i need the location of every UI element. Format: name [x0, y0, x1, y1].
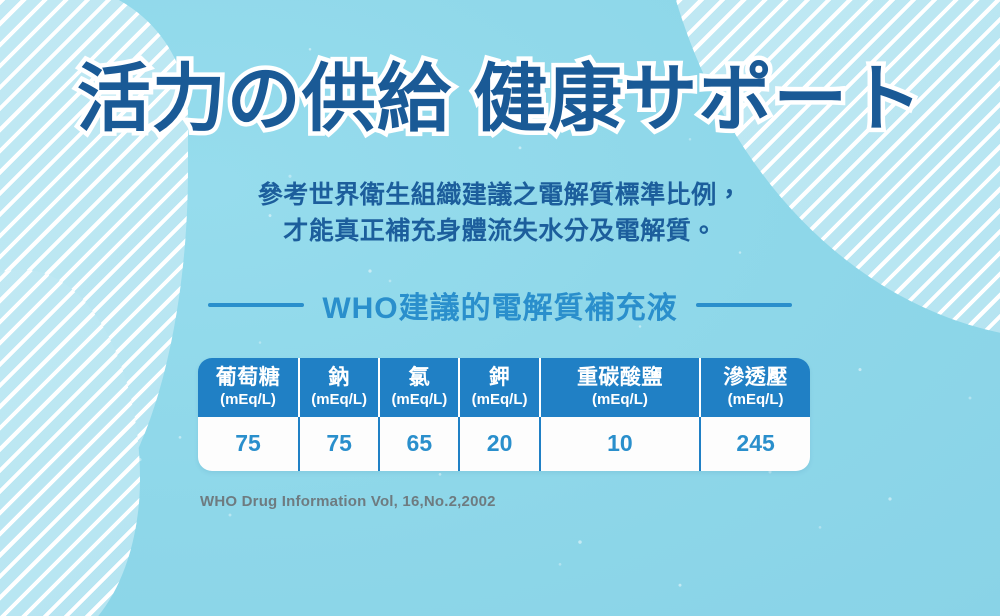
- table-header-unit: (mEq/L): [382, 391, 456, 408]
- table-header-unit: (mEq/L): [703, 391, 808, 408]
- table-value-cell: 75: [300, 417, 380, 471]
- table-value-cell: 10: [541, 417, 701, 471]
- banner-content: 活力の供給 健康サポート 參考世界衛生組織建議之電解質標準比例， 才能真正補充身…: [0, 0, 1000, 616]
- table-header-name: 葡萄糖: [200, 366, 296, 390]
- table-body: 75 75 65 20 10 245: [198, 417, 810, 471]
- table-header-unit: (mEq/L): [200, 391, 296, 408]
- table-header-unit: (mEq/L): [302, 391, 376, 408]
- source-citation: WHO Drug Information Vol, 16,No.2,2002: [200, 493, 496, 510]
- table-value-cell: 245: [701, 417, 810, 471]
- divider-rule-right: [696, 303, 792, 307]
- table-header-cell: 鉀 (mEq/L): [460, 358, 540, 417]
- table-value-cell: 20: [460, 417, 540, 471]
- table-header-name: 滲透壓: [703, 366, 808, 390]
- table-header-name: 重碳酸鹽: [543, 366, 697, 390]
- table-row: 75 75 65 20 10 245: [198, 417, 810, 471]
- section-heading: WHO建議的電解質補充液: [0, 283, 1000, 327]
- table-value-cell: 75: [198, 417, 300, 471]
- table-header-unit: (mEq/L): [543, 391, 697, 408]
- table-header-unit: (mEq/L): [462, 391, 536, 408]
- section-heading-label: WHO建議的電解質補充液: [322, 283, 677, 327]
- subtitle-line-2: 才能真正補充身體流失水分及電解質。: [0, 214, 1000, 250]
- table-header-name: 氯: [382, 366, 456, 390]
- table-header-cell: 氯 (mEq/L): [380, 358, 460, 417]
- subtitle-line-1: 參考世界衛生組織建議之電解質標準比例，: [0, 178, 1000, 214]
- table-header-cell: 滲透壓 (mEq/L): [701, 358, 810, 417]
- promotional-banner: 活力の供給 健康サポート 參考世界衛生組織建議之電解質標準比例， 才能真正補充身…: [0, 0, 1000, 616]
- divider-rule-left: [208, 303, 304, 307]
- table-header-cell: 葡萄糖 (mEq/L): [198, 358, 300, 417]
- subtitle: 參考世界衛生組織建議之電解質標準比例， 才能真正補充身體流失水分及電解質。: [0, 178, 1000, 249]
- table-header-name: 鉀: [462, 366, 536, 390]
- table-header-cell: 重碳酸鹽 (mEq/L): [541, 358, 701, 417]
- table-header-row: 葡萄糖 (mEq/L) 鈉 (mEq/L) 氯 (mEq/L) 鉀: [198, 358, 810, 417]
- table-header-cell: 鈉 (mEq/L): [300, 358, 380, 417]
- electrolyte-table-wrapper: 葡萄糖 (mEq/L) 鈉 (mEq/L) 氯 (mEq/L) 鉀: [198, 358, 810, 471]
- main-title: 活力の供給 健康サポート: [0, 62, 1000, 136]
- table-header-name: 鈉: [302, 366, 376, 390]
- table-value-cell: 65: [380, 417, 460, 471]
- electrolyte-table: 葡萄糖 (mEq/L) 鈉 (mEq/L) 氯 (mEq/L) 鉀: [198, 358, 810, 471]
